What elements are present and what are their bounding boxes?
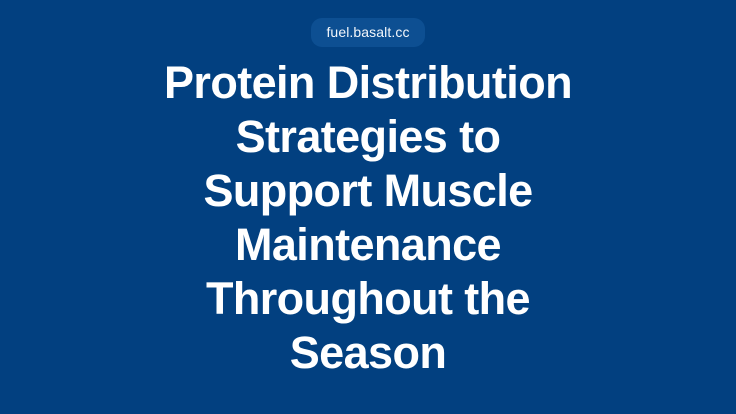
title-line: Throughout the: [153, 272, 583, 326]
title-line: Protein Distribution: [153, 56, 583, 110]
title-card: fuel.basalt.cc Protein Distribution Stra…: [0, 0, 736, 414]
page-title: Protein Distribution Strategies to Suppo…: [153, 56, 583, 380]
title-line: Strategies to: [153, 110, 583, 164]
title-line: Support Muscle: [153, 164, 583, 218]
title-line: Maintenance: [153, 218, 583, 272]
title-line: Season: [153, 326, 583, 380]
site-domain-badge: fuel.basalt.cc: [311, 18, 424, 47]
